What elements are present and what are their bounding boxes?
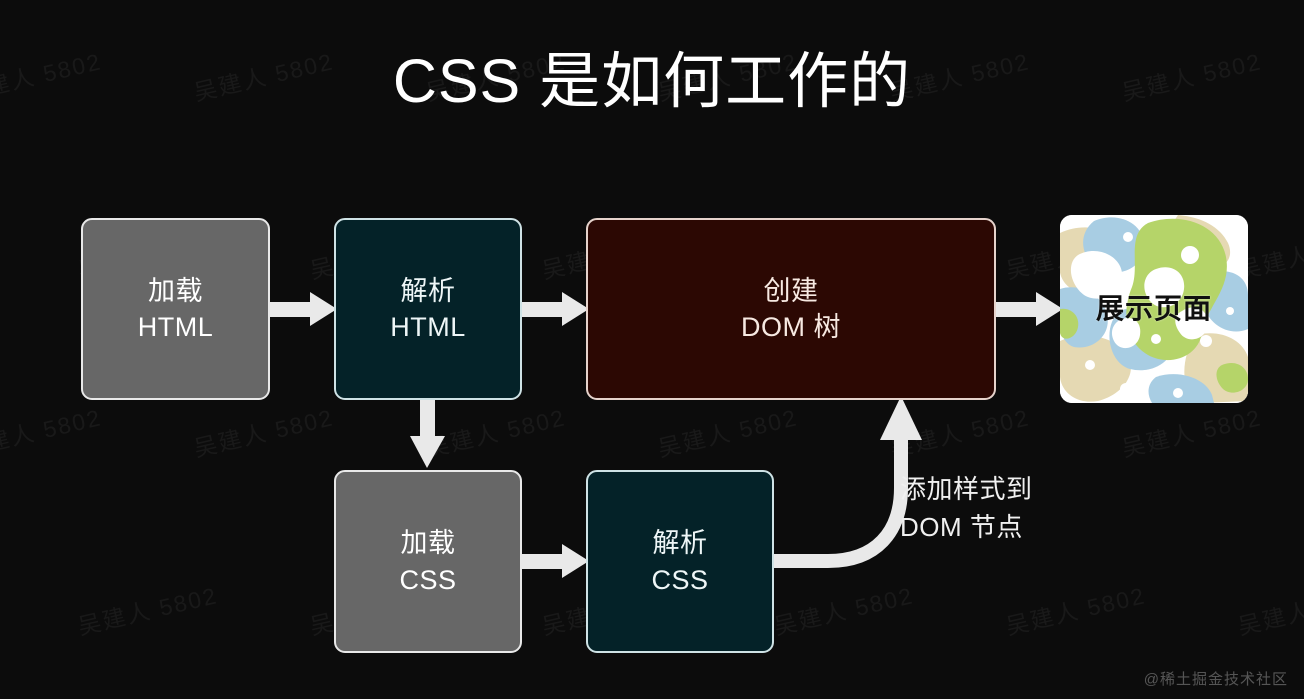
flow-node-parse-html[interactable]: 解析 HTML	[334, 218, 522, 400]
page-title: CSS 是如何工作的	[0, 46, 1304, 116]
edge-label-add-style-to-dom: 添加样式到 DOM 节点	[900, 471, 1140, 546]
flow-node-parse-html-label: 解析 HTML	[390, 273, 466, 346]
flow-node-load-html[interactable]: 加载 HTML	[81, 218, 270, 400]
flow-node-load-html-label: 加载 HTML	[138, 273, 214, 346]
flow-node-render-page[interactable]: 展示页面	[1060, 215, 1248, 403]
flow-node-load-css-label: 加载 CSS	[399, 525, 456, 598]
slide-canvas: 吴建人 5802吴建人 5802吴建人 5802吴建人 5802吴建人 5802…	[0, 0, 1304, 699]
site-credit: @稀土掘金技术社区	[1144, 668, 1288, 689]
flow-node-load-css[interactable]: 加载 CSS	[334, 470, 522, 653]
flow-node-render-page-label: 展示页面	[1096, 290, 1212, 328]
flow-node-parse-css-label: 解析 CSS	[651, 525, 708, 598]
flow-node-create-dom-label: 创建 DOM 树	[741, 273, 841, 346]
flow-node-create-dom[interactable]: 创建 DOM 树	[586, 218, 996, 400]
flow-node-parse-css[interactable]: 解析 CSS	[586, 470, 774, 653]
